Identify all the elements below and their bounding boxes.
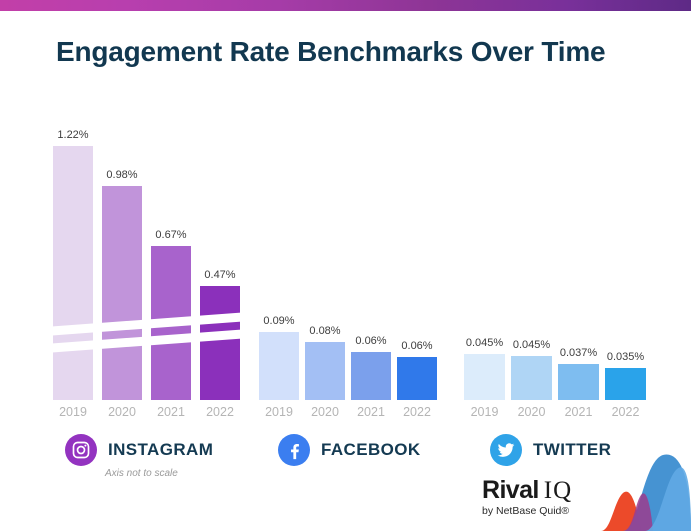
instagram-icon bbox=[65, 434, 97, 466]
x-axis-year-label: 2022 bbox=[387, 405, 447, 419]
bar-instagram-2022[interactable] bbox=[200, 286, 240, 400]
legend-platform-name: INSTAGRAM bbox=[108, 440, 213, 460]
bar-value-label: 0.98% bbox=[90, 169, 154, 181]
bar-twitter-2021[interactable] bbox=[558, 364, 599, 400]
bar-value-label: 1.22% bbox=[41, 129, 105, 141]
decorative-curves-graphic bbox=[581, 451, 691, 531]
bar-facebook-2020[interactable] bbox=[305, 342, 345, 400]
twitter-icon bbox=[490, 434, 522, 466]
page-title: Engagement Rate Benchmarks Over Time bbox=[56, 36, 605, 68]
bar-twitter-2020[interactable] bbox=[511, 356, 552, 400]
bar-twitter-2019[interactable] bbox=[464, 354, 505, 400]
x-axis-year-label: 2022 bbox=[595, 405, 656, 419]
bar-facebook-2022[interactable] bbox=[397, 357, 437, 400]
top-accent-bar bbox=[0, 0, 691, 11]
bar-value-label: 0.035% bbox=[593, 351, 658, 363]
bar-twitter-2022[interactable] bbox=[605, 368, 646, 400]
bar-value-label: 0.47% bbox=[188, 269, 252, 281]
rivaliq-tagline: by NetBase Quid® bbox=[482, 505, 572, 517]
facebook-icon bbox=[278, 434, 310, 466]
rivaliq-wordmark: RivalIQ bbox=[482, 478, 572, 503]
bar-facebook-2021[interactable] bbox=[351, 352, 391, 400]
rivaliq-logo: RivalIQ by NetBase Quid® bbox=[482, 478, 572, 517]
legend-platform-name: FACEBOOK bbox=[321, 440, 421, 460]
rivaliq-iq: IQ bbox=[544, 478, 572, 503]
bar-facebook-2019[interactable] bbox=[259, 332, 299, 400]
bar-instagram-2020[interactable] bbox=[102, 186, 142, 400]
x-axis-year-label: 2022 bbox=[190, 405, 250, 419]
legend-item-facebook[interactable]: FACEBOOK bbox=[278, 434, 421, 466]
legend-item-instagram[interactable]: INSTAGRAM bbox=[65, 434, 213, 466]
rivaliq-name: Rival bbox=[482, 478, 539, 503]
slide-canvas: Engagement Rate Benchmarks Over Time 1.2… bbox=[0, 0, 691, 531]
bar-value-label: 0.67% bbox=[139, 229, 203, 241]
bar-instagram-2019[interactable] bbox=[53, 146, 93, 400]
axis-scale-note: Axis not to scale bbox=[105, 468, 178, 479]
bar-value-label: 0.06% bbox=[385, 340, 449, 352]
